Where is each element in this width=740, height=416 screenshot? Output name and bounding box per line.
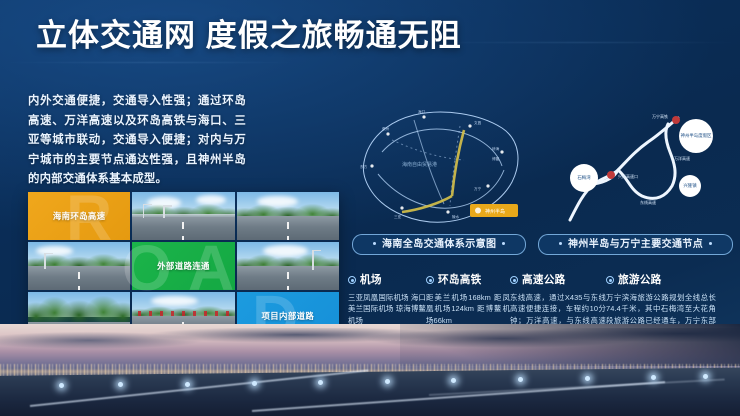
bullet-icon bbox=[510, 276, 518, 284]
road-photo-image bbox=[237, 192, 339, 240]
map-region-label: 海南自由贸易港 bbox=[402, 161, 437, 168]
collage-photo bbox=[28, 242, 130, 290]
collage-photo bbox=[237, 242, 339, 290]
svg-text:神州半岛度假区: 神州半岛度假区 bbox=[681, 132, 712, 139]
cityscape-highway-photo bbox=[0, 324, 740, 416]
presentation-slide: 立体交通网 度假之旅畅通无阻 内外交通便捷，交通导入性强；通过环岛高速、万洋高速… bbox=[0, 0, 740, 416]
road-photo-image bbox=[132, 192, 234, 240]
map-caption-hainan: 海南全岛交通体系示意图 bbox=[352, 234, 526, 255]
svg-text:东方: 东方 bbox=[360, 164, 368, 169]
info-title-text: 机场 bbox=[360, 274, 382, 286]
collage-tile-label: 外部道路连通 bbox=[132, 260, 234, 272]
hainan-map-svg: 海口文昌 琼海博鳌 万宁陵水 三亚东方 儋州 海南自由贸易港 神州半岛 bbox=[352, 100, 528, 228]
info-column-title: 机场 bbox=[348, 272, 426, 287]
collage-photo bbox=[237, 192, 339, 240]
svg-text:海口: 海口 bbox=[418, 109, 426, 114]
info-column-body: 三亚凤凰国际机场 海口美兰国际机场 琼海博鳌机场 bbox=[348, 292, 426, 326]
svg-text:石梅湾: 石梅湾 bbox=[577, 174, 591, 181]
svg-text:儋州: 儋州 bbox=[382, 126, 390, 131]
decorative-streak bbox=[420, 42, 740, 43]
bullet-icon bbox=[348, 276, 356, 284]
hainan-island-map: 海口文昌 琼海博鳌 万宁陵水 三亚东方 儋州 海南自由贸易港 神州半岛 bbox=[352, 100, 528, 228]
collage-tile-external-roads: 外部道路连通 bbox=[132, 242, 234, 290]
info-title-text: 旅游公路 bbox=[618, 274, 662, 286]
svg-text:博鳌: 博鳌 bbox=[492, 156, 500, 161]
info-column-title: 环岛高铁 bbox=[426, 272, 510, 287]
decorative-streak bbox=[0, 62, 300, 63]
svg-text:万宁: 万宁 bbox=[474, 186, 482, 191]
map-caption-peninsula: 神州半岛与万宁主要交通节点 bbox=[538, 234, 733, 255]
map-caption-text: 海南全岛交通体系示意图 bbox=[382, 239, 496, 250]
info-title-text: 高速公路 bbox=[522, 274, 566, 286]
collage-photo bbox=[132, 192, 234, 240]
info-column-body: 距美兰机场168km 距凤凰机场124km 距博鳌机场66km bbox=[426, 292, 510, 326]
map-caption-text: 神州半岛与万宁主要交通节点 bbox=[568, 239, 703, 250]
map-marker-shenzhou-peninsula: 神州半岛 bbox=[470, 204, 518, 217]
bullet-icon bbox=[426, 276, 434, 284]
collage-tile-label: 海南环岛高速 bbox=[28, 210, 130, 222]
svg-text:三亚: 三亚 bbox=[394, 215, 402, 219]
road-photo-image bbox=[28, 242, 130, 290]
svg-text:万宁高铁: 万宁高铁 bbox=[652, 113, 668, 119]
svg-text:琼海: 琼海 bbox=[492, 146, 500, 151]
svg-text:东线高速: 东线高速 bbox=[640, 199, 656, 205]
svg-text:陵水: 陵水 bbox=[452, 214, 460, 219]
shenzhou-peninsula-map: 神州半岛度假区 石梅湾 兴隆镇 万宁高铁 兴隆高速口 万洋高速 东线高速 bbox=[556, 100, 726, 228]
collage-tile-label: 项目内部道路 bbox=[237, 310, 339, 322]
svg-text:兴隆镇: 兴隆镇 bbox=[683, 182, 697, 189]
road-photo-collage: 海南环岛高速 bbox=[28, 192, 339, 340]
peninsula-map-svg: 神州半岛度假区 石梅湾 兴隆镇 万宁高铁 兴隆高速口 万洋高速 东线高速 bbox=[556, 100, 726, 228]
svg-text:文昌: 文昌 bbox=[474, 120, 482, 125]
road-photo-image bbox=[237, 242, 339, 290]
info-column-title: 高速公路 bbox=[510, 272, 606, 287]
info-column-title: 旅游公路 bbox=[606, 272, 716, 287]
svg-text:神州半岛: 神州半岛 bbox=[485, 208, 505, 215]
info-title-text: 环岛高铁 bbox=[438, 274, 482, 286]
collage-tile-highway: 海南环岛高速 bbox=[28, 192, 130, 240]
page-title: 立体交通网 度假之旅畅通无阻 bbox=[36, 20, 462, 51]
svg-text:兴隆高速口: 兴隆高速口 bbox=[618, 173, 638, 179]
bullet-icon bbox=[606, 276, 614, 284]
svg-text:万洋高速: 万洋高速 bbox=[674, 155, 690, 161]
intro-paragraph: 内外交通便捷，交通导入性强；通过环岛高速、万洋高速以及环岛高铁与海口、三亚等城市… bbox=[28, 92, 246, 190]
